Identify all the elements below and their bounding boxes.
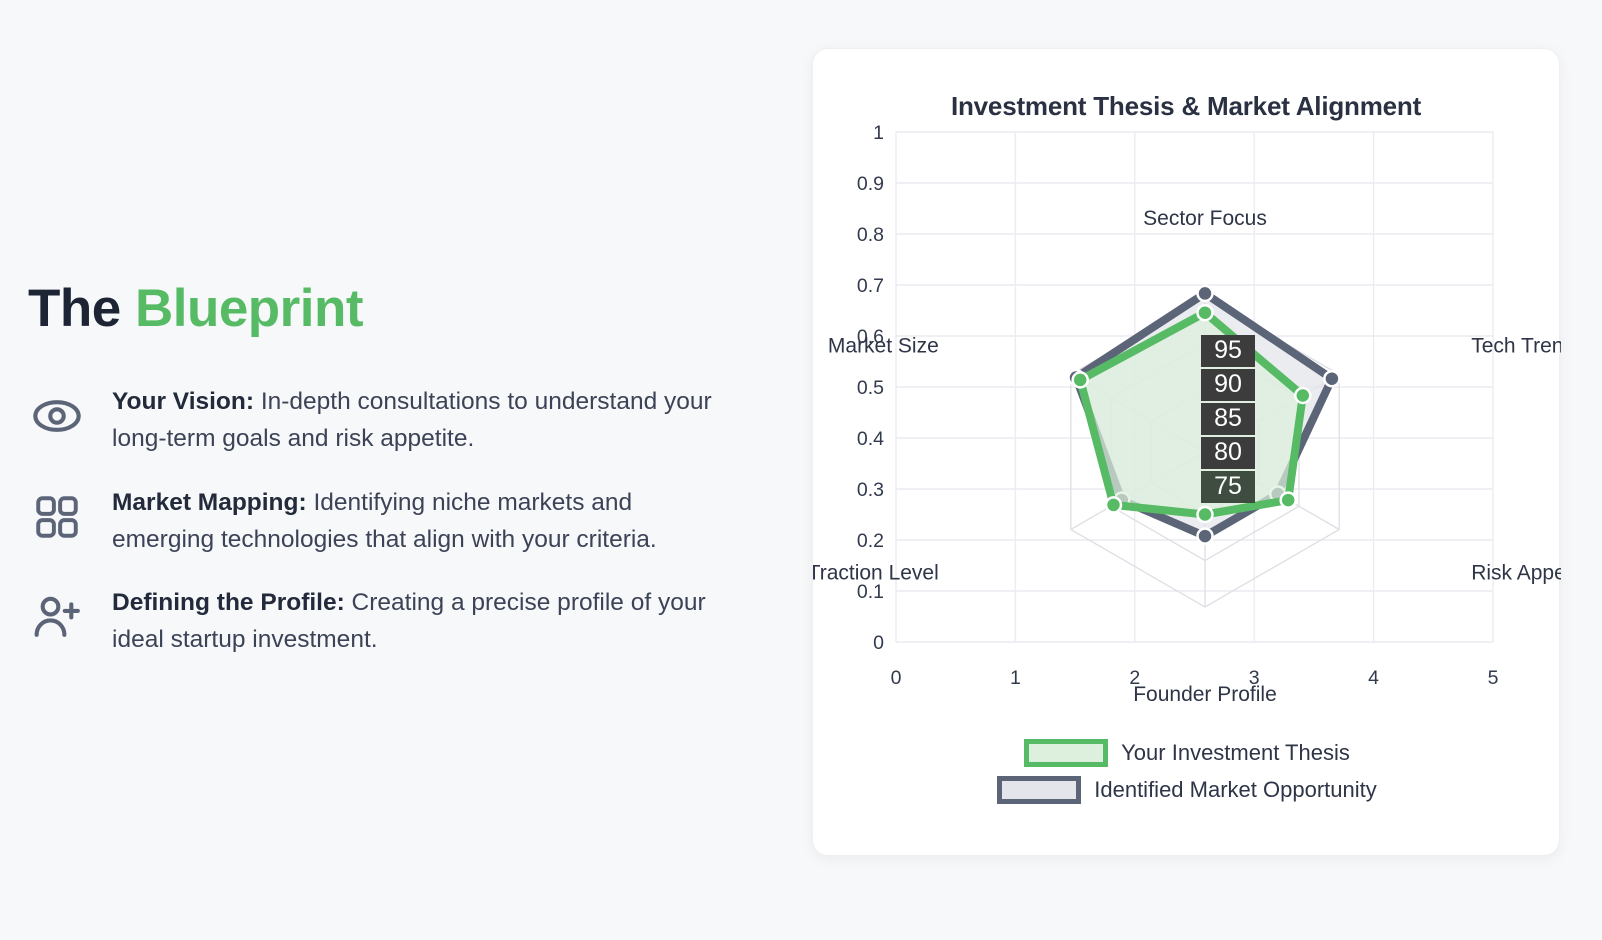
radar-data-point[interactable]	[1324, 371, 1339, 386]
legend-item[interactable]: Your Investment Thesis	[1024, 739, 1350, 767]
y-tick-label: 0.8	[857, 224, 884, 246]
page-title: The Blueprint	[28, 281, 740, 337]
page-title-plain: The	[28, 279, 135, 338]
feature-lead: Your Vision:	[112, 388, 254, 415]
chart-legend: Your Investment ThesisIdentified Market …	[813, 739, 1561, 804]
x-tick-label: 0	[891, 667, 902, 689]
data-tooltip: 80	[1201, 437, 1255, 469]
radar-axis-label: Sector Focus	[1143, 207, 1267, 230]
radar-data-point[interactable]	[1281, 493, 1296, 508]
eye-icon	[28, 387, 86, 445]
radar-chart-svg: 00.10.20.30.40.50.60.70.80.91012345 Sect…	[813, 122, 1561, 702]
y-tick-label: 0.2	[857, 530, 884, 552]
feature-text: Market Mapping: Identifying niche market…	[112, 484, 740, 558]
legend-item[interactable]: Identified Market Opportunity	[997, 776, 1376, 804]
grid-icon	[28, 488, 86, 546]
legend-swatch	[997, 776, 1081, 804]
radar-axis-label: Tech Trends	[1471, 335, 1561, 358]
data-tooltip: 90	[1201, 369, 1255, 401]
data-tooltip: 85	[1201, 403, 1255, 435]
radar-data-point[interactable]	[1198, 305, 1213, 320]
x-tick-label: 4	[1368, 667, 1379, 689]
radar-data-point[interactable]	[1295, 388, 1310, 403]
page-title-accent: Blueprint	[135, 279, 363, 338]
chart-title: Investment Thesis & Market Alignment	[813, 91, 1559, 122]
list-item: Defining the Profile: Creating a precise…	[28, 584, 740, 658]
data-tooltip: 95	[1201, 335, 1255, 367]
list-item: Your Vision: In-depth consultations to u…	[28, 383, 740, 457]
radar-axis-label: Market Size	[828, 335, 939, 358]
y-tick-label: 0.4	[857, 428, 884, 450]
feature-text: Your Vision: In-depth consultations to u…	[112, 383, 740, 457]
feature-list: Your Vision: In-depth consultations to u…	[28, 383, 740, 658]
y-tick-label: 0	[873, 632, 884, 654]
radar-data-point[interactable]	[1073, 372, 1088, 387]
data-tooltip: 75	[1201, 471, 1255, 503]
x-tick-label: 1	[1010, 667, 1021, 689]
data-tooltip-stack: 9590858075	[1201, 335, 1255, 505]
page-root: The Blueprint Your Vision: In-depth cons…	[0, 0, 1602, 940]
legend-label: Your Investment Thesis	[1121, 740, 1350, 766]
legend-swatch	[1024, 739, 1108, 767]
radar-data-point[interactable]	[1198, 529, 1213, 544]
radar-data-point[interactable]	[1106, 497, 1121, 512]
left-panel: The Blueprint Your Vision: In-depth cons…	[0, 0, 800, 940]
y-tick-label: 0.7	[857, 275, 884, 297]
radar-axis-label: Founder Profile	[1133, 683, 1277, 702]
legend-label: Identified Market Opportunity	[1094, 777, 1376, 803]
x-tick-label: 5	[1488, 667, 1499, 689]
y-tick-label: 0.9	[857, 173, 884, 195]
y-tick-label: 0.3	[857, 479, 884, 501]
radar-axis-label: Risk Appetite	[1471, 562, 1561, 585]
feature-lead: Market Mapping:	[112, 489, 307, 516]
chart-card: Investment Thesis & Market Alignment 00.…	[812, 48, 1560, 856]
y-tick-label: 0.5	[857, 377, 884, 399]
user-plus-icon	[28, 588, 86, 646]
radar-axis-label: Traction Level	[813, 562, 939, 585]
radar-data-point[interactable]	[1198, 286, 1213, 301]
radar-data-point[interactable]	[1198, 507, 1213, 522]
feature-lead: Defining the Profile:	[112, 589, 345, 616]
y-tick-label: 1	[873, 122, 884, 144]
feature-text: Defining the Profile: Creating a precise…	[112, 584, 740, 658]
plot-area: 00.10.20.30.40.50.60.70.80.91012345 Sect…	[813, 122, 1561, 702]
list-item: Market Mapping: Identifying niche market…	[28, 484, 740, 558]
